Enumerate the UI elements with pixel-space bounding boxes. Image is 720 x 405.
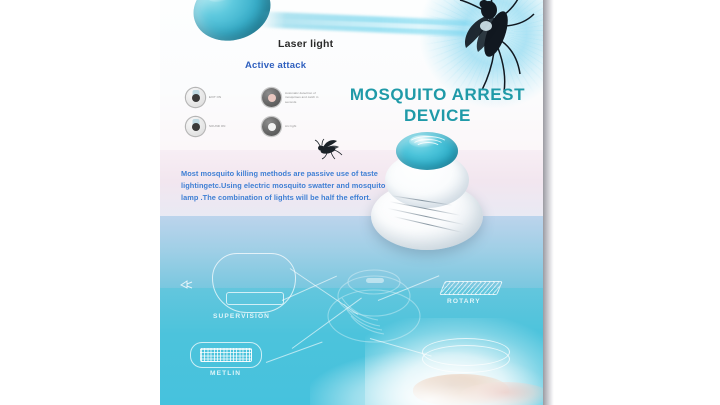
mode-icon-4 xyxy=(262,117,281,136)
feature-label-supervision: SUPERVISION xyxy=(213,313,270,320)
mode-icon-2 xyxy=(262,88,281,107)
ghost-device-outline xyxy=(320,258,428,350)
rotary-ring-outline-2 xyxy=(422,345,510,373)
spec-icon-grid: EXIT ON Automatic detection of mosquitoe… xyxy=(186,88,336,142)
poster-edge-shadow xyxy=(543,0,554,405)
title-line-2: DEVICE xyxy=(404,106,471,125)
mode-icon-1 xyxy=(186,88,205,107)
feature-label-rotary: ROTARY xyxy=(447,298,481,305)
spec-caption-2: Automatic detection of mosquitoes and ca… xyxy=(285,91,327,104)
supervision-slot xyxy=(226,292,284,305)
spec-item-3: SOUND ON xyxy=(186,117,225,136)
spec-caption-3: SOUND ON xyxy=(209,124,225,128)
spec-item-2: Automatic detection of mosquitoes and ca… xyxy=(262,88,327,107)
title-line-1: MOSQUITO ARREST xyxy=(350,85,525,104)
hero-dome-arc-3 xyxy=(415,142,441,154)
spec-caption-4: Arc light xyxy=(285,124,296,128)
spec-item-4: Arc light xyxy=(262,117,296,136)
product-poster: Laser light Active attack MOSQUITO ARRES… xyxy=(160,0,543,405)
page-title: MOSQUITO ARREST DEVICE xyxy=(340,85,535,126)
feature-label-metlin: METLIN xyxy=(210,370,241,377)
screenshot-canvas: Laser light Active attack MOSQUITO ARRES… xyxy=(0,0,720,405)
insect-marker-icon xyxy=(178,278,194,291)
mosquito-silhouette-large xyxy=(456,0,540,94)
rotary-outline xyxy=(439,281,503,295)
active-attack-label: Active attack xyxy=(245,60,306,71)
laser-light-label: Laser light xyxy=(278,38,333,50)
mosquito-silhouette-small xyxy=(313,138,343,160)
metlin-mesh xyxy=(200,348,252,362)
product-description: Most mosquito killing methods are passiv… xyxy=(181,168,386,204)
spec-item-1: EXIT ON xyxy=(186,88,221,107)
spec-caption-1: EXIT ON xyxy=(209,95,221,99)
hero-product-image xyxy=(363,130,491,254)
mode-icon-3 xyxy=(186,117,205,136)
